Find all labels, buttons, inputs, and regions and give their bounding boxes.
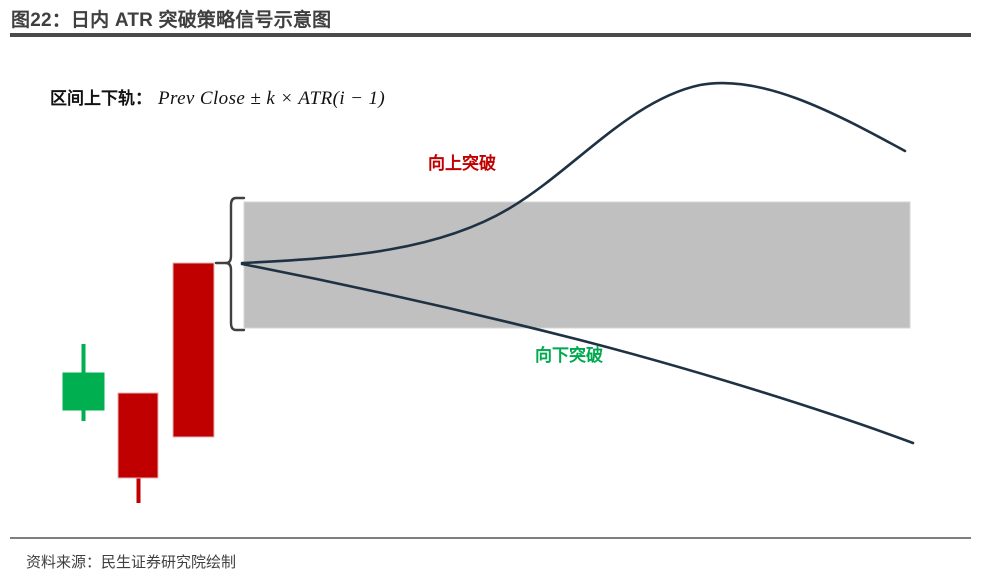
candlestick-series [63, 263, 214, 503]
breakout-up-label: 向上突破 [428, 149, 496, 174]
atr-band [244, 202, 910, 328]
chart-canvas [0, 0, 981, 581]
footer-divider [10, 537, 971, 539]
figure-container: 图22：日内 ATR 突破策略信号示意图 区间上下轨： Prev Close ±… [0, 0, 981, 581]
candle-2 [118, 393, 158, 503]
breakout-down-label: 向下突破 [535, 341, 603, 366]
candle-3 [173, 263, 214, 437]
source-note: 资料来源：民生证券研究院绘制 [26, 551, 236, 572]
candle-1 [63, 344, 104, 421]
range-bracket [216, 198, 244, 330]
